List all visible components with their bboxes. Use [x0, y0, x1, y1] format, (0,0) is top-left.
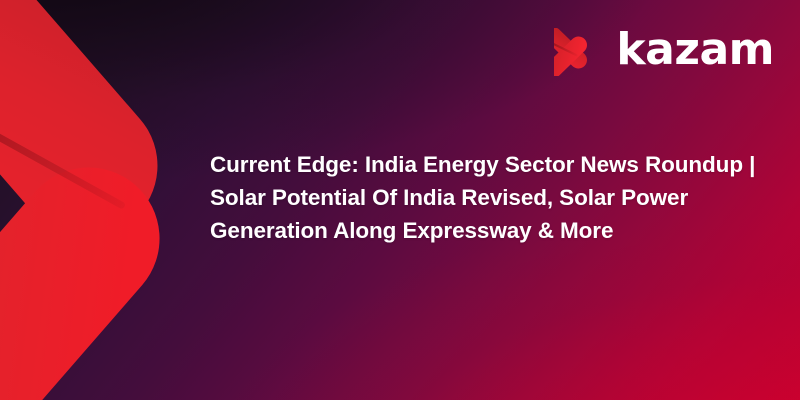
headline-line-2: Solar Potential Of India Revised, Solar …: [210, 181, 780, 214]
blog-banner: kazam Current Edge: India Energy Sector …: [0, 0, 800, 400]
page-title: Current Edge: India Energy Sector News R…: [210, 148, 780, 247]
brand-wordmark: kazam: [616, 28, 774, 72]
headline-line-1: Current Edge: India Energy Sector News R…: [210, 148, 780, 181]
brand-lockup: kazam: [554, 26, 774, 78]
headline-line-3: Generation Along Expressway & More: [210, 214, 780, 247]
kazam-chevron-logo-icon: [554, 28, 604, 76]
